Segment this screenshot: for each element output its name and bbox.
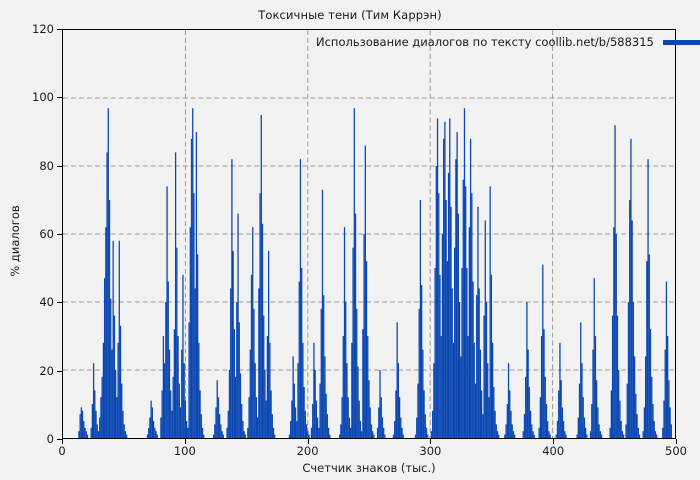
chart-title: Токсичные тени (Тим Каррэн) <box>0 8 700 22</box>
chart-legend: Использование диалогов по тексту coollib… <box>312 34 700 50</box>
chart-figure: Токсичные тени (Тим Каррэн) % диалогов 0… <box>0 0 700 480</box>
y-tick-label: 20 <box>8 364 54 378</box>
x-tick-label: 0 <box>32 444 92 458</box>
x-tick-mark <box>553 439 554 444</box>
x-tick-label: 400 <box>523 444 583 458</box>
x-tick-mark <box>430 439 431 444</box>
y-tick-mark <box>57 234 62 235</box>
y-tick-label: 40 <box>8 295 54 309</box>
x-tick-label: 300 <box>400 444 460 458</box>
x-tick-mark <box>676 439 677 444</box>
y-tick-label: 80 <box>8 159 54 173</box>
y-tick-mark <box>57 166 62 167</box>
x-tick-mark <box>308 439 309 444</box>
y-tick-mark <box>57 97 62 98</box>
y-tick-label: 120 <box>8 22 54 36</box>
y-tick-mark <box>57 371 62 372</box>
y-tick-mark <box>57 29 62 30</box>
plot-area <box>62 29 676 439</box>
x-tick-label: 500 <box>646 444 700 458</box>
x-tick-label: 100 <box>155 444 215 458</box>
x-tick-mark <box>62 439 63 444</box>
x-tick-mark <box>185 439 186 444</box>
x-axis-label: Счетчик знаков (тыс.) <box>62 461 676 475</box>
legend-color-swatch <box>663 40 700 45</box>
legend-entry-label: Использование диалогов по тексту coollib… <box>316 35 654 49</box>
y-tick-label: 100 <box>8 90 54 104</box>
y-axis-ticks: 020406080100120 <box>0 0 54 480</box>
y-tick-mark <box>57 302 62 303</box>
bar-series-svg <box>63 30 675 438</box>
x-tick-label: 200 <box>278 444 338 458</box>
y-tick-label: 60 <box>8 227 54 241</box>
